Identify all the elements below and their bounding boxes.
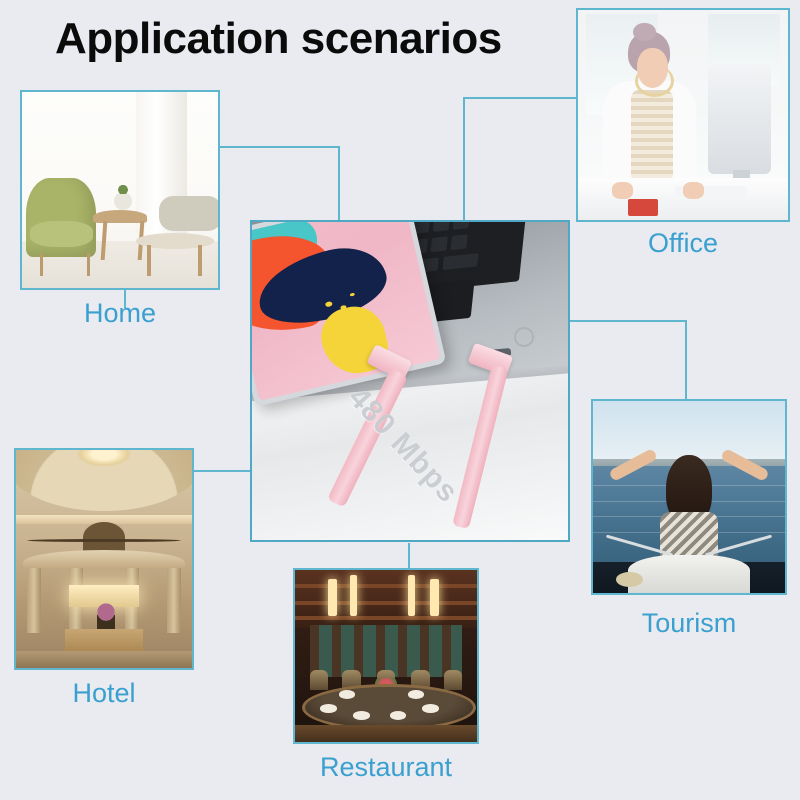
scenario-image-office[interactable]: [576, 8, 790, 222]
page-title: Application scenarios: [55, 14, 502, 64]
connector-tourism-horizontal: [567, 320, 687, 322]
scenario-image-hotel[interactable]: [14, 448, 194, 670]
connector-tourism-vertical: [685, 320, 687, 400]
tourism-photo: [593, 401, 785, 593]
connector-restaurant-vertical: [408, 543, 410, 570]
scenario-label-hotel: Hotel: [14, 678, 194, 709]
home-photo: [22, 92, 218, 288]
product-hero-photo[interactable]: 480 Mbps: [250, 220, 570, 542]
scenario-label-home: Home: [20, 298, 220, 329]
scenario-image-home[interactable]: [20, 90, 220, 290]
hero-photo: 480 Mbps: [252, 222, 568, 540]
scenario-label-tourism: Tourism: [591, 608, 787, 639]
scenario-label-restaurant: Restaurant: [273, 752, 499, 783]
connector-home-drop: [338, 146, 340, 220]
office-photo: [578, 10, 788, 220]
restaurant-photo: [295, 570, 477, 742]
connector-hotel-horizontal: [194, 470, 254, 472]
connector-office-drop: [463, 97, 465, 222]
scenario-image-tourism[interactable]: [591, 399, 787, 595]
scenario-label-office: Office: [576, 228, 790, 259]
scenario-image-restaurant[interactable]: [293, 568, 479, 744]
poster-canvas: Application scenarios Home: [0, 0, 800, 800]
hotel-photo: [16, 450, 192, 668]
